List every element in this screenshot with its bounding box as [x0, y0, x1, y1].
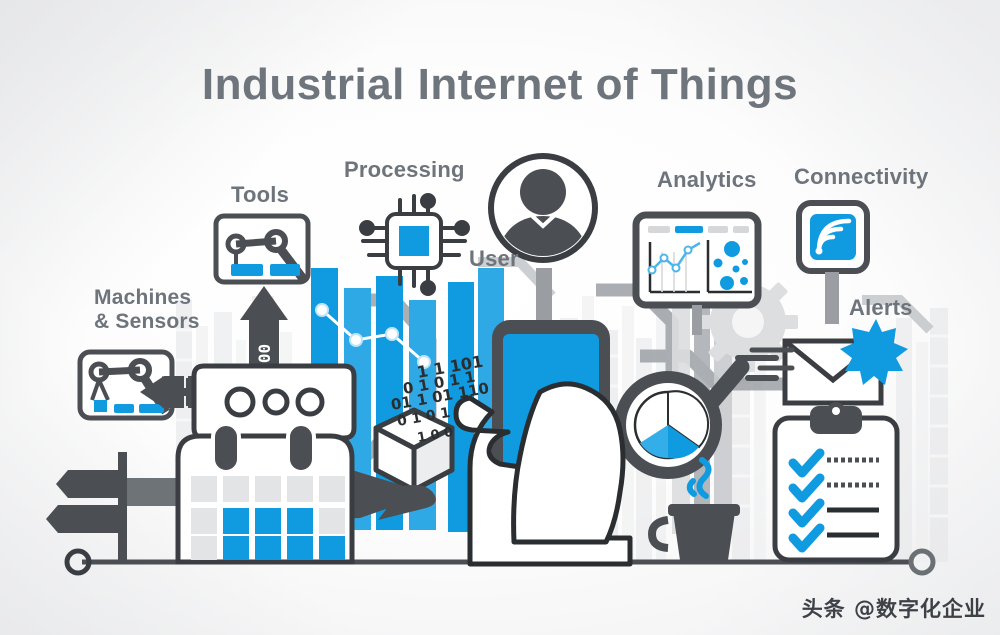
label-processing: Processing	[344, 158, 465, 183]
watermark: 头条 @数字化企业	[802, 593, 986, 623]
panel-tab-4	[733, 226, 749, 233]
label-alerts: Alerts	[849, 296, 913, 321]
tools-robot-icon	[216, 216, 308, 282]
user-avatar-icon	[491, 156, 595, 320]
panel-tab-3	[708, 226, 728, 233]
label-machines-sensors: Machines & Sensors	[94, 286, 200, 333]
factory-window-grid	[191, 476, 345, 560]
panel-tab-1	[648, 226, 670, 233]
factory-building-icon	[178, 424, 352, 562]
infographic-canvas: Industrial Internet of Things	[0, 0, 1000, 635]
label-user: User	[469, 247, 519, 272]
label-analytics: Analytics	[657, 168, 757, 193]
chip-processor-icon	[359, 193, 470, 296]
panel-tab-2	[675, 226, 703, 233]
label-connectivity: Connectivity	[794, 165, 928, 190]
clipboard-checklist-icon	[775, 402, 897, 560]
label-tools: Tools	[231, 183, 289, 208]
pie-chart	[635, 391, 708, 458]
